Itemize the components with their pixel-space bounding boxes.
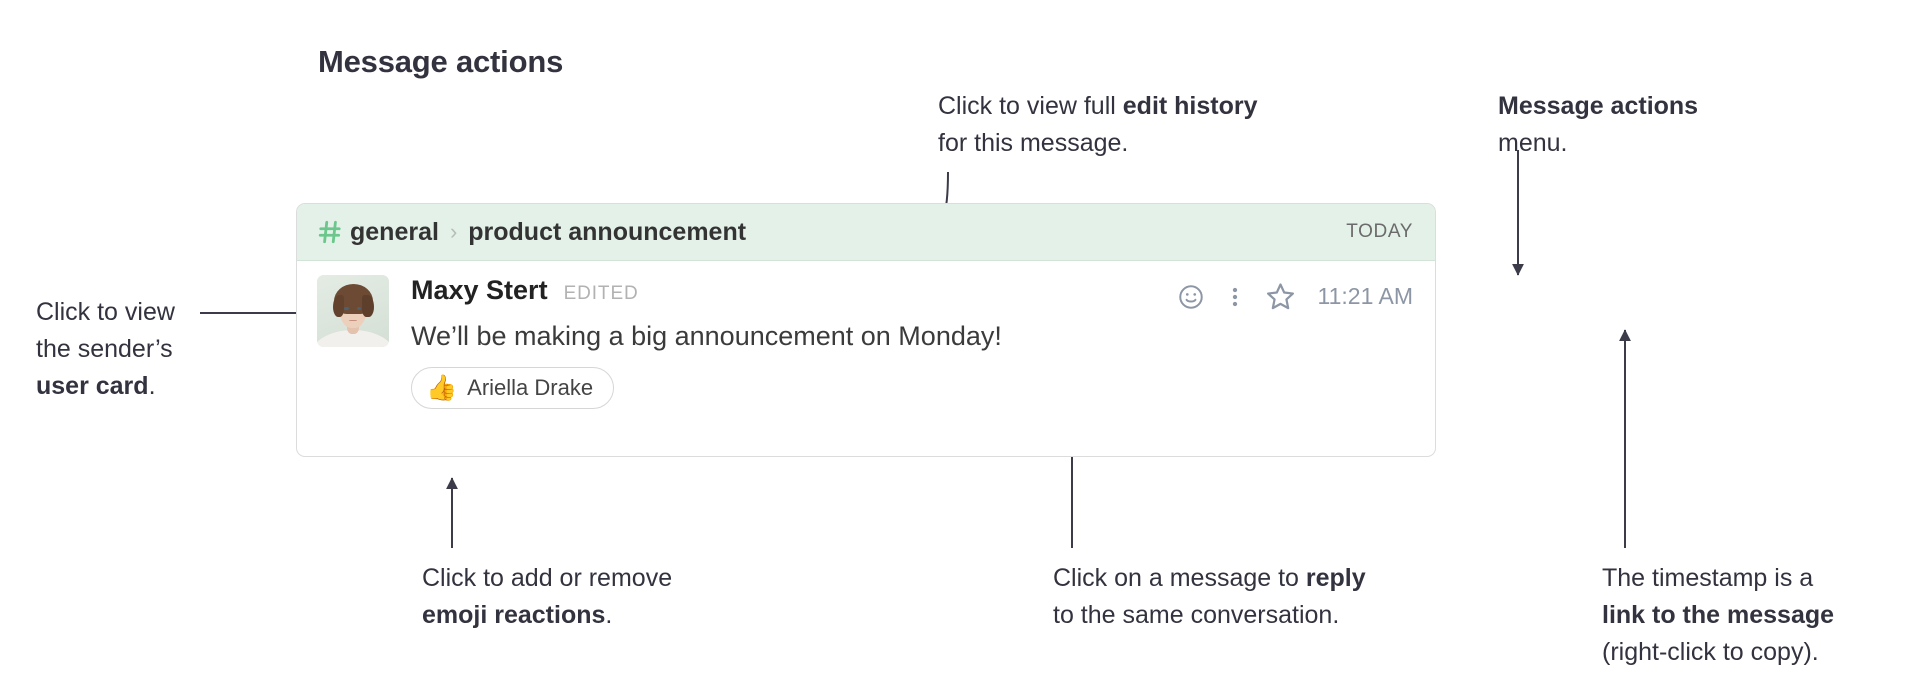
hash-icon[interactable] xyxy=(317,219,343,245)
annotation-actions-menu: Message actions menu. xyxy=(1498,88,1698,162)
annotation-user-card-line3: user card. xyxy=(36,368,175,405)
annotation-reply-line1: Click on a message to reply xyxy=(1053,560,1366,597)
annotation-timestamp-line3: (right-click to copy). xyxy=(1602,634,1834,671)
annotation-text: Click on a message to xyxy=(1053,564,1306,592)
header-date-label: TODAY xyxy=(1346,221,1413,243)
reaction-label: Ariella Drake xyxy=(467,375,593,401)
annotation-emphasis: edit history xyxy=(1123,92,1258,120)
annotation-edit-history-line2: for this message. xyxy=(938,125,1258,162)
thumbs-up-icon: 👍 xyxy=(426,376,457,401)
annotation-reply: Click on a message to reply to the same … xyxy=(1053,560,1366,634)
annotation-reply-line2: to the same conversation. xyxy=(1053,597,1366,634)
message-body[interactable]: We’ll be making a big announcement on Mo… xyxy=(411,319,1415,353)
annotation-timestamp: The timestamp is a link to the message (… xyxy=(1602,560,1834,671)
message-timestamp[interactable]: 11:21 AM xyxy=(1318,283,1413,310)
annotation-edit-history-line1: Click to view full edit history xyxy=(938,88,1258,125)
avatar[interactable] xyxy=(317,275,389,347)
edited-label[interactable]: EDITED xyxy=(564,283,639,305)
stream-name[interactable]: general xyxy=(350,218,439,247)
breadcrumb-separator-icon: › xyxy=(450,221,457,243)
annotation-text: Click to view full xyxy=(938,92,1123,120)
message-card: general › product announcement TODAY Max… xyxy=(296,203,1436,457)
reaction-list: 👍 Ariella Drake xyxy=(411,367,1415,409)
annotation-user-card-line1: Click to view xyxy=(36,294,175,331)
message-actions-icon[interactable] xyxy=(1225,283,1245,311)
annotation-edit-history: Click to view full edit history for this… xyxy=(938,88,1258,162)
annotation-actions-menu-line1: Message actions xyxy=(1498,88,1698,125)
annotation-emoji-reactions-line2: emoji reactions. xyxy=(422,597,672,634)
message-row[interactable]: Maxy Stert EDITED We’ll be making a big … xyxy=(297,261,1435,409)
annotation-user-card-line2: the sender’s xyxy=(36,331,175,368)
annotation-emoji-reactions: Click to add or remove emoji reactions. xyxy=(422,560,672,634)
message-controls: 11:21 AM xyxy=(1177,281,1413,312)
star-icon[interactable] xyxy=(1265,281,1296,312)
annotation-user-card: Click to view the sender’s user card. xyxy=(36,294,175,405)
avatar-hair-left xyxy=(333,295,345,317)
annotation-text: . xyxy=(149,372,156,400)
annotation-emoji-reactions-line1: Click to add or remove xyxy=(422,560,672,597)
annotation-timestamp-line1: The timestamp is a xyxy=(1602,560,1834,597)
annotation-emphasis: user card xyxy=(36,372,149,400)
reaction-pill[interactable]: 👍 Ariella Drake xyxy=(411,367,614,409)
annotation-text: . xyxy=(605,601,612,629)
annotation-actions-menu-line2: menu. xyxy=(1498,125,1698,162)
annotation-timestamp-line2: link to the message xyxy=(1602,597,1834,634)
sender-name[interactable]: Maxy Stert xyxy=(411,275,548,306)
emoji-reaction-icon[interactable] xyxy=(1177,283,1205,311)
page-title: Message actions xyxy=(318,44,563,80)
annotation-emphasis: emoji reactions xyxy=(422,601,605,629)
avatar-hair-right xyxy=(362,295,374,317)
stream-topic-header: general › product announcement TODAY xyxy=(297,204,1435,261)
annotation-emphasis: reply xyxy=(1306,564,1366,592)
topic-name[interactable]: product announcement xyxy=(468,218,746,247)
